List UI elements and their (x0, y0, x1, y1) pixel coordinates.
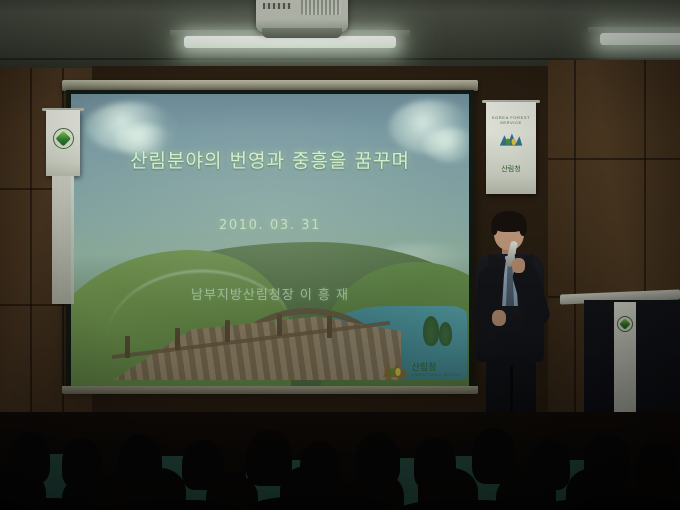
slide-title: 산림분야의 번영과 중흥을 꿈꾸며 (71, 146, 469, 173)
projector (256, 0, 348, 32)
panel-seam (30, 68, 32, 438)
panel-seam (574, 60, 576, 440)
railing-post (225, 320, 230, 342)
logo-korean-text: 산림청 (412, 364, 461, 373)
banner-caption-right: 산림청 (486, 164, 536, 174)
railing-post (277, 314, 282, 336)
diamond-shape (56, 131, 71, 146)
presenter-hair-side (491, 218, 498, 235)
presentation-slide: 산림분야의 번영과 중흥을 꿈꾸며 2010. 03. 31 남부지방산림청장 … (71, 94, 469, 386)
tree (439, 322, 452, 346)
forest-mountains-icon (498, 131, 524, 146)
railing-post (175, 328, 180, 350)
fluorescent-light-right (600, 33, 680, 45)
korea-forest-service-banner: KOREA FOREST SERVICE 산림청 (486, 102, 536, 194)
forest-mountains-icon (382, 362, 408, 378)
university-banner (46, 110, 80, 176)
projector-buttons-row2 (263, 3, 291, 9)
banner-arc-text-right: KOREA FOREST SERVICE (486, 115, 536, 125)
presenter-hand-left (492, 310, 506, 326)
railing-post (125, 336, 130, 358)
slide-presenter: 남부지방산림청장 이 흥 재 (71, 284, 469, 303)
audience-shoulders (250, 496, 390, 510)
audience (0, 412, 680, 510)
slide-date: 2010. 03. 31 (71, 218, 469, 233)
banner-tail-left (52, 176, 74, 304)
audience-shoulders (400, 500, 530, 510)
university-emblem-icon (53, 128, 74, 149)
panel-seam (548, 158, 680, 160)
presenter (468, 214, 554, 426)
logo-english-text: KOREA FOREST SERVICE (412, 373, 461, 377)
railing-post (327, 316, 332, 338)
audience-shoulders (110, 500, 240, 510)
podium-emblem-icon (617, 316, 633, 332)
projector-lens-housing (262, 28, 342, 38)
presenter-hand-right (512, 258, 525, 273)
tree (423, 316, 439, 346)
screen-bottom-weight-bar (62, 386, 478, 394)
lecture-hall-photo: 산림분야의 번영과 중흥을 꿈꾸며 2010. 03. 31 남부지방산림청장 … (0, 0, 680, 510)
projection-screen: 산림분야의 번영과 중흥을 꿈꾸며 2010. 03. 31 남부지방산림청장 … (66, 90, 474, 390)
diamond-shape (619, 318, 630, 329)
audience-shoulders (540, 498, 680, 510)
korea-forest-service-logo: 산림청 KOREA FOREST SERVICE (382, 362, 461, 378)
projector-vent-grille (301, 0, 341, 15)
presenter-hair-side (519, 218, 527, 236)
